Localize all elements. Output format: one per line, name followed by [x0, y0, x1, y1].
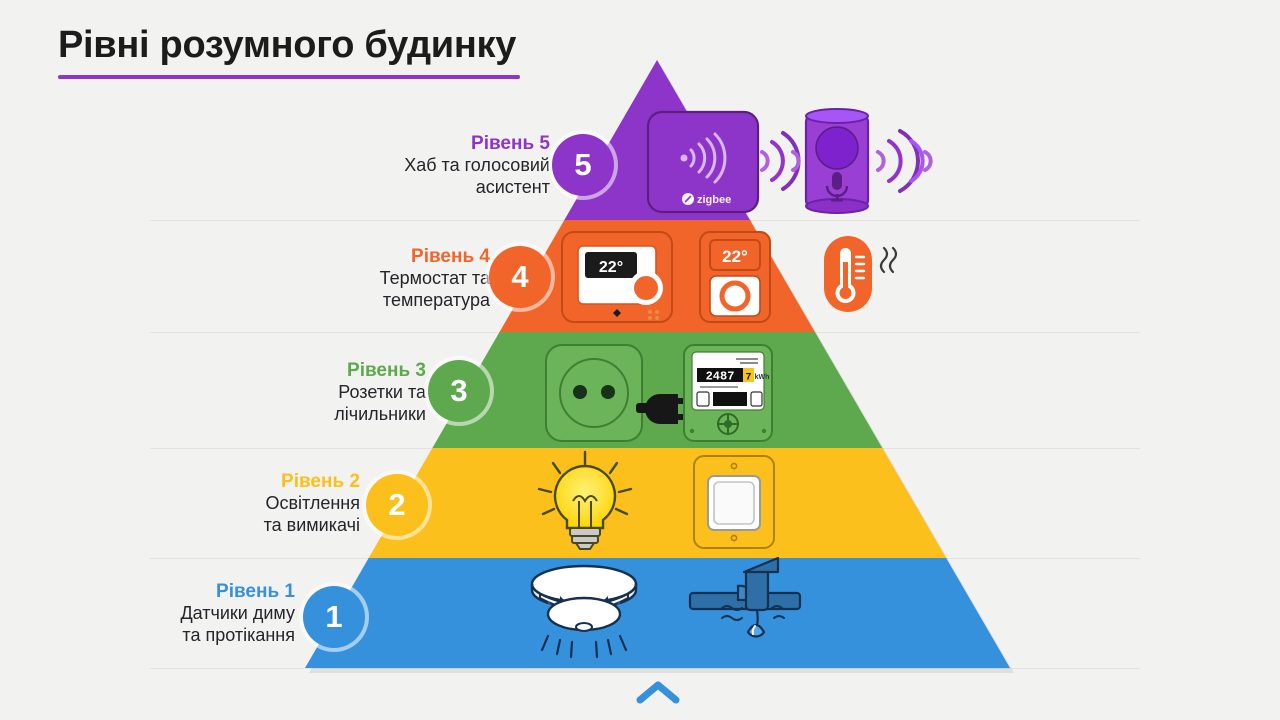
electricity-meter-icon: 2487 7 kWh [684, 345, 772, 441]
tier-label-1: Рівень 1 Датчики диму та протікання [70, 580, 295, 647]
smart-thermostat-icon: 22° [700, 232, 770, 322]
zigbee-hub-icon: zigbee [648, 112, 758, 212]
tier-level-title-1: Рівень 1 [70, 580, 295, 603]
speaker-grille [816, 127, 858, 169]
tier-level-title-3: Рівень 3 [206, 359, 426, 382]
band-level-5 [0, 60, 1280, 221]
svg-text:zigbee: zigbee [697, 194, 731, 206]
svg-text:7: 7 [745, 373, 751, 384]
level-badge-1[interactable]: 1 [303, 586, 365, 648]
hub-signal-waves-icon [762, 133, 799, 189]
heat-waves-icon [881, 248, 896, 272]
meter-unit-label: kWh [755, 374, 770, 381]
infographic-canvas: Рівні розумного будинку [0, 0, 1280, 720]
thermometer-icon [824, 236, 896, 312]
tier-description-4: Термостат та температура [270, 268, 490, 312]
thermostat-display-value: 22° [599, 259, 623, 276]
level-badge-3[interactable]: 3 [428, 360, 490, 422]
tier-label-3: Рівень 3 Розетки та лічильники [206, 359, 426, 426]
zigbee-brand-mark: zigbee [682, 193, 731, 206]
smart-thermostat-display-value: 22° [722, 247, 748, 266]
tier-description-2: Освітлення та вимикачі [140, 493, 360, 537]
chevron-up-icon[interactable] [636, 678, 680, 708]
tier-label-2: Рівень 2 Освітлення та вимикачі [140, 470, 360, 537]
level-badge-2[interactable]: 2 [366, 474, 428, 536]
tier-description-5: Хаб та голосовий асистент [330, 155, 550, 199]
level-badge-5[interactable]: 5 [552, 134, 614, 196]
tier-description-3: Розетки та лічильники [206, 382, 426, 426]
meter-reading-value: 2487 [706, 370, 735, 384]
tier-description-1: Датчики диму та протікання [70, 603, 295, 647]
wall-thermostat-icon: 22° [562, 232, 672, 322]
tier-label-5: Рівень 5 Хаб та голосовий асистент [330, 132, 550, 199]
tier-label-4: Рівень 4 Термостат та температура [270, 245, 490, 312]
tier-level-title-4: Рівень 4 [270, 245, 490, 268]
tier-level-title-2: Рівень 2 [140, 470, 360, 493]
tier-level-title-5: Рівень 5 [330, 132, 550, 155]
smart-speaker-icon [806, 109, 868, 213]
level-badge-4[interactable]: 4 [489, 246, 551, 308]
light-switch-icon [694, 456, 774, 548]
speaker-sound-waves-icon [878, 131, 931, 191]
